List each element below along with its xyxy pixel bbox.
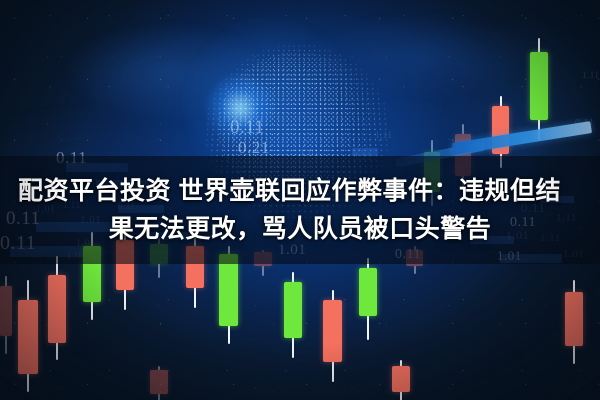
candle-body	[284, 282, 302, 338]
candle-body	[219, 254, 238, 326]
candle-body	[359, 268, 377, 316]
headline-block: 配资平台投资 世界壶联回应作弊事件：违规但结 果无法更改，骂人队员被口头警告	[0, 160, 600, 260]
candle-body	[323, 300, 342, 362]
candle-body	[48, 275, 66, 343]
candle-body	[0, 286, 12, 336]
banner-image: 0.110.110.111.011.111.011.010.111.010.11…	[0, 0, 600, 400]
candle-body	[530, 52, 548, 120]
candle-body	[18, 300, 38, 374]
candle-body	[150, 370, 168, 394]
headline-line-1: 配资平台投资 世界壶联回应作弊事件：违规但结	[18, 173, 561, 209]
candle-body	[565, 292, 583, 346]
headline-line-2: 果无法更改，骂人队员被口头警告	[109, 211, 492, 247]
